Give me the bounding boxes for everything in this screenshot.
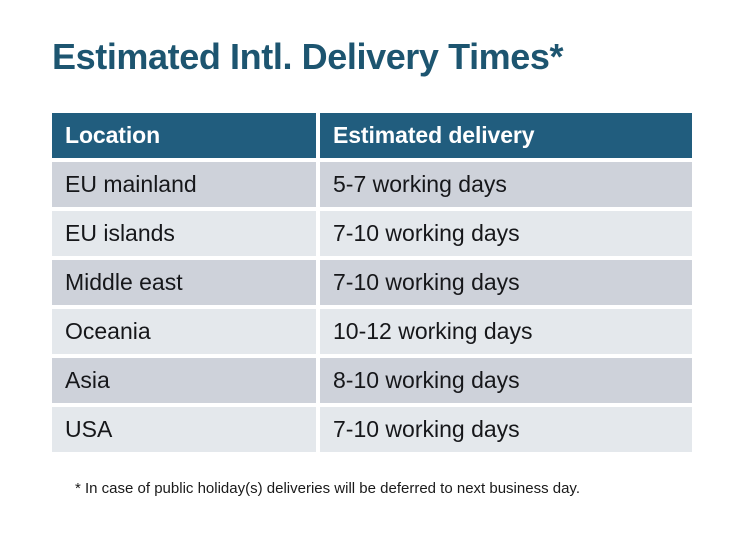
- page-title: Estimated Intl. Delivery Times*: [52, 34, 563, 80]
- footnote: * In case of public holiday(s) deliverie…: [75, 479, 580, 499]
- cell-location: USA: [52, 407, 316, 452]
- table-row: Asia 8-10 working days: [52, 358, 692, 403]
- cell-location: Oceania: [52, 309, 316, 354]
- table-header-row: Location Estimated delivery: [52, 113, 692, 158]
- column-header-estimated-delivery: Estimated delivery: [320, 113, 692, 158]
- delivery-times-card: Estimated Intl. Delivery Times* Location…: [0, 0, 745, 536]
- cell-location: EU mainland: [52, 162, 316, 207]
- cell-location: Asia: [52, 358, 316, 403]
- table-row: USA 7-10 working days: [52, 407, 692, 452]
- cell-delivery: 10-12 working days: [320, 309, 692, 354]
- cell-delivery: 7-10 working days: [320, 407, 692, 452]
- table-row: EU mainland 5-7 working days: [52, 162, 692, 207]
- cell-delivery: 5-7 working days: [320, 162, 692, 207]
- cell-delivery: 7-10 working days: [320, 260, 692, 305]
- delivery-times-table: Location Estimated delivery EU mainland …: [52, 113, 692, 452]
- table-row: EU islands 7-10 working days: [52, 211, 692, 256]
- column-header-location: Location: [52, 113, 316, 158]
- table-row: Oceania 10-12 working days: [52, 309, 692, 354]
- cell-location: EU islands: [52, 211, 316, 256]
- cell-delivery: 7-10 working days: [320, 211, 692, 256]
- cell-delivery: 8-10 working days: [320, 358, 692, 403]
- cell-location: Middle east: [52, 260, 316, 305]
- table-row: Middle east 7-10 working days: [52, 260, 692, 305]
